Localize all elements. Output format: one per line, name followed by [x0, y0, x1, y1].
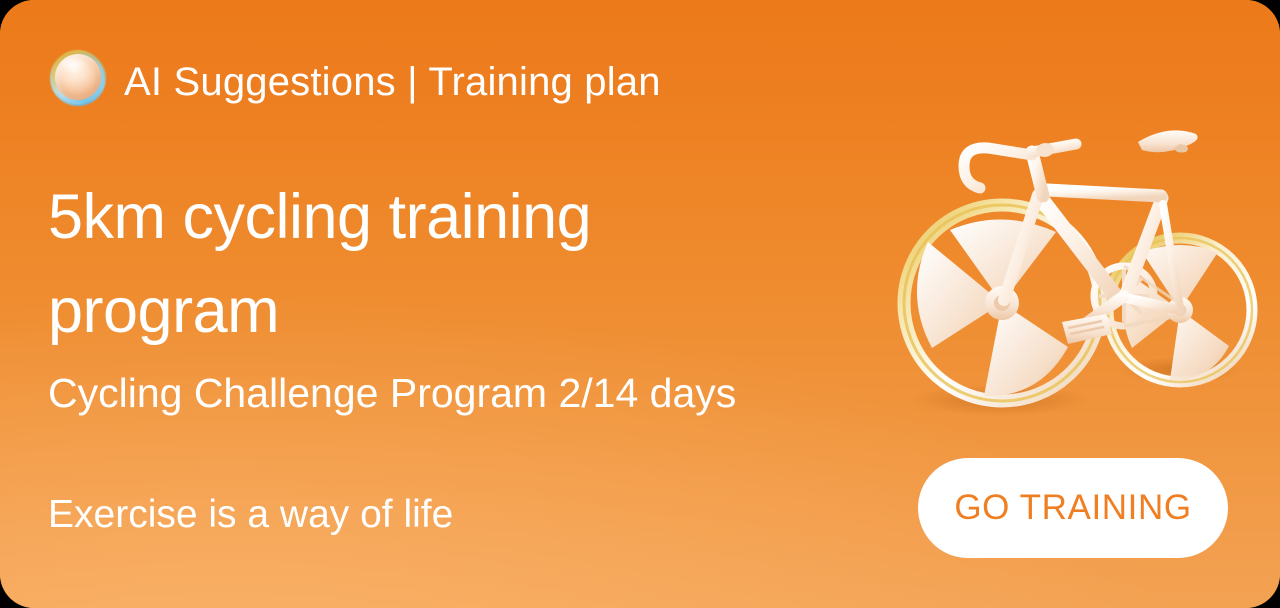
ai-orb-icon	[50, 50, 106, 106]
ai-orb-highlight	[62, 58, 88, 74]
ai-suggestion-card: AI Suggestions | Training plan 5km cycli…	[0, 0, 1280, 608]
card-eyebrow: AI Suggestions | Training plan	[124, 58, 661, 106]
motivational-tagline: Exercise is a way of life	[48, 490, 453, 540]
page-title: 5km cycling training program	[48, 170, 808, 358]
program-progress-text: Cycling Challenge Program 2/14 days	[48, 367, 736, 419]
go-training-button[interactable]: GO TRAINING	[918, 458, 1228, 558]
